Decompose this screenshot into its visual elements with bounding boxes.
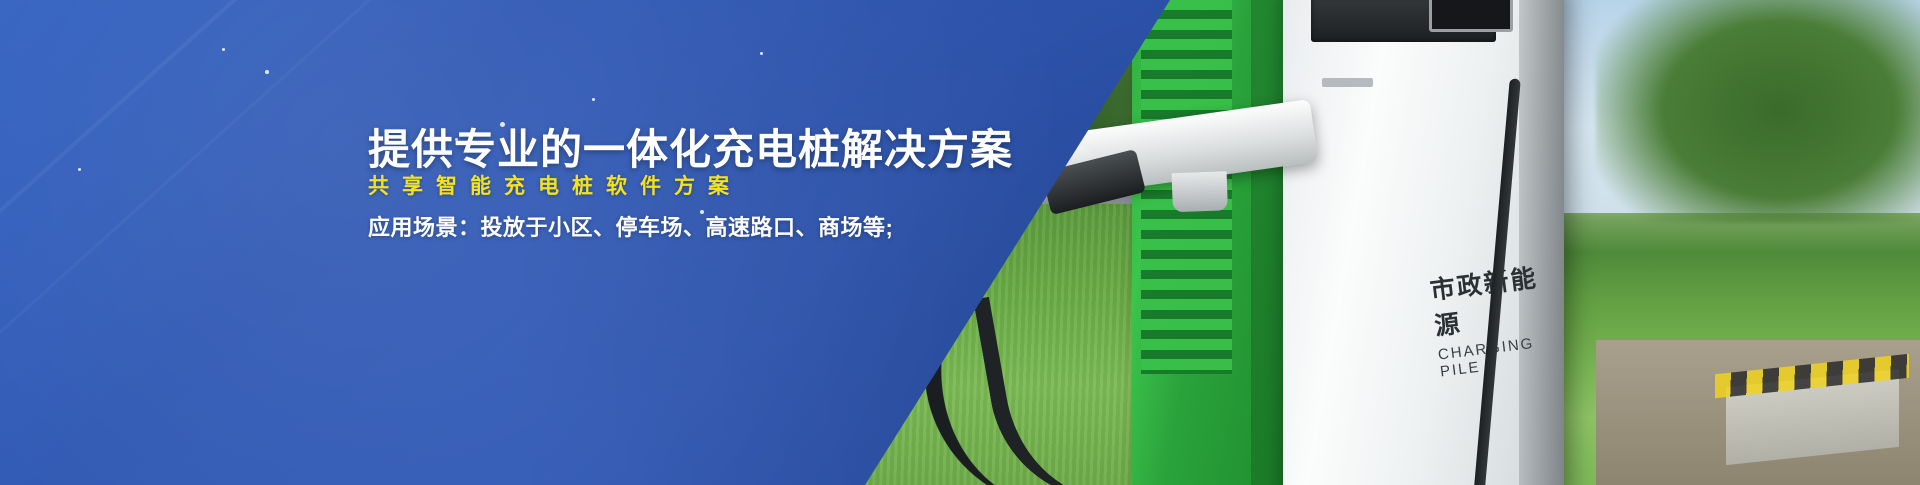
tree-foliage-right: [1596, 0, 1920, 223]
nozzle-trigger: [1172, 171, 1228, 212]
banner-title: 提供专业的一体化充电桩解决方案: [368, 116, 1013, 177]
white-charger-unit: 市政新能源 CHARGING PILE: [1283, 0, 1564, 485]
banner-description: 应用场景：投放于小区、停车场、高速路口、商场等;: [368, 210, 893, 242]
banner-copy: 提供专业的一体化充电桩解决方案 共享智能充电桩软件方案 应用场景：投放于小区、停…: [0, 0, 940, 485]
banner-subtitle: 共享智能充电桩软件方案: [368, 170, 742, 200]
hero-banner: A 市政新能源 CHARGING PILE: [0, 0, 1920, 485]
charger-display-screen: [1429, 0, 1513, 32]
charger-side-shading: [1519, 0, 1564, 485]
card-reader-slot: [1322, 78, 1373, 87]
